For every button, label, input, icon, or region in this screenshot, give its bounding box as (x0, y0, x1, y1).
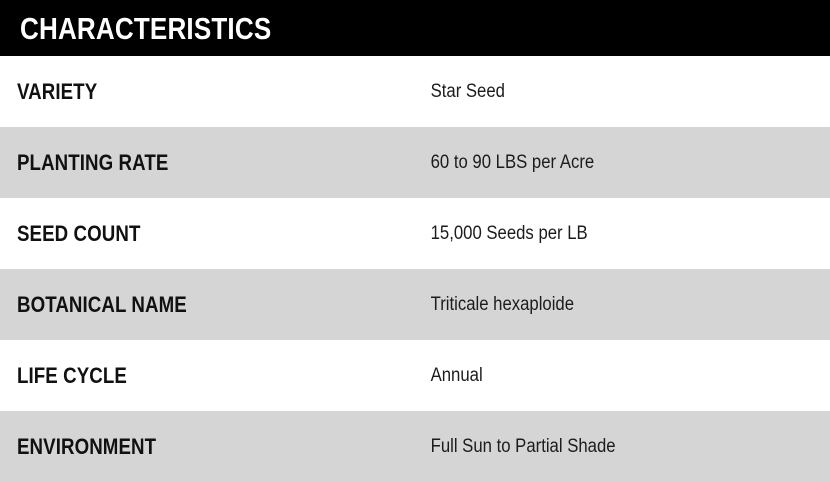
table-row: LIFE CYCLE Annual (0, 340, 830, 411)
row-label-botanical-name: BOTANICAL NAME (0, 294, 351, 316)
table-row: ENVIRONMENT Full Sun to Partial Shade (0, 411, 830, 482)
row-value-planting-rate: 60 to 90 LBS per Acre (413, 153, 780, 172)
page-title: CHARACTERISTICS (20, 13, 271, 44)
row-value-environment: Full Sun to Partial Shade (413, 437, 780, 456)
row-value-seed-count: 15,000 Seeds per LB (413, 224, 780, 243)
characteristics-spec-table: CHARACTERISTICS VARIETY Star Seed PLANTI… (0, 0, 830, 481)
table-row: BOTANICAL NAME Triticale hexaploide (0, 269, 830, 340)
table-row: SEED COUNT 15,000 Seeds per LB (0, 198, 830, 269)
row-value-life-cycle: Annual (413, 366, 780, 385)
table-header-bar: CHARACTERISTICS (0, 0, 830, 56)
row-label-environment: ENVIRONMENT (0, 436, 351, 458)
row-label-variety: VARIETY (0, 81, 351, 103)
table-row: PLANTING RATE 60 to 90 LBS per Acre (0, 127, 830, 198)
spec-rows-container: VARIETY Star Seed PLANTING RATE 60 to 90… (0, 56, 830, 482)
table-row: VARIETY Star Seed (0, 56, 830, 127)
row-value-botanical-name: Triticale hexaploide (413, 295, 780, 314)
row-value-variety: Star Seed (413, 82, 780, 101)
row-label-planting-rate: PLANTING RATE (0, 152, 351, 174)
row-label-seed-count: SEED COUNT (0, 223, 351, 245)
row-label-life-cycle: LIFE CYCLE (0, 365, 351, 387)
